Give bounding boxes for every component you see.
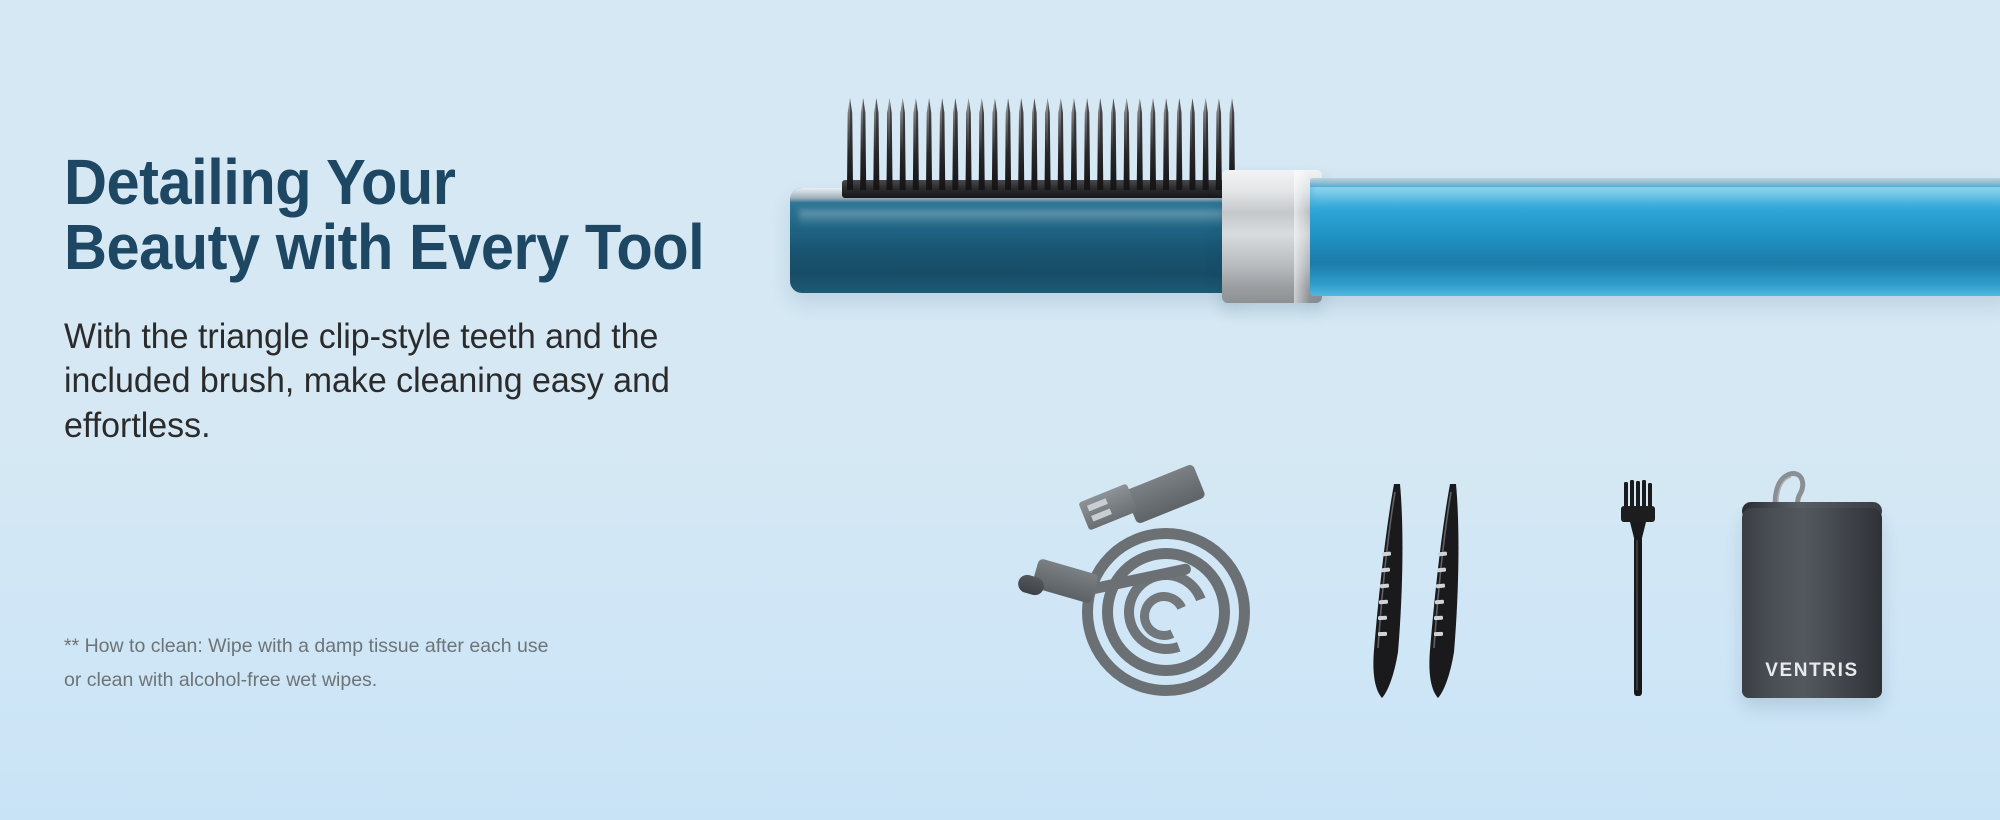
comb-tooth [1057, 98, 1065, 190]
comb-tooth [965, 98, 973, 190]
body-copy: With the triangle clip-style teeth and t… [64, 315, 733, 449]
usb-a-connector-tip [1078, 483, 1137, 530]
comb-attachment-barrel [790, 188, 1240, 293]
comb-tooth [1149, 98, 1157, 190]
product-image-styling-comb [790, 70, 2000, 330]
brand-logo-ventris: VENTRIS [1742, 660, 1882, 682]
body-line-1: With the triangle clip-style teeth and t… [64, 315, 733, 360]
comb-tooth [1162, 98, 1170, 190]
comb-tooth [951, 98, 959, 190]
page-title: Detailing Your Beauty with Every Tool [64, 150, 771, 281]
body-line-2: included brush, make cleaning easy and [64, 359, 733, 404]
comb-teeth-row [846, 98, 1236, 190]
hair-clip-right [1424, 482, 1466, 700]
comb-tooth [1070, 98, 1078, 190]
comb-tooth [872, 98, 880, 190]
copy-block: Detailing Your Beauty with Every Tool Wi… [64, 150, 824, 449]
headline-line-1: Detailing Your [64, 150, 771, 215]
comb-tooth [1083, 98, 1091, 190]
comb-tooth [1044, 98, 1052, 190]
comb-tooth [846, 98, 854, 190]
footnote-line-2: or clean with alcohol-free wet wipes. [64, 664, 549, 698]
comb-tooth [1017, 98, 1025, 190]
footnote-line-1: ** How to clean: Wipe with a damp tissue… [64, 630, 549, 664]
promo-banner: Detailing Your Beauty with Every Tool Wi… [0, 0, 2000, 820]
comb-tooth [991, 98, 999, 190]
comb-tooth [859, 98, 867, 190]
comb-tooth [938, 98, 946, 190]
comb-tooth [1096, 98, 1104, 190]
cleaning-footnote: ** How to clean: Wipe with a damp tissue… [64, 630, 549, 697]
hair-clip-left [1368, 482, 1410, 700]
comb-tooth [886, 98, 894, 190]
usb-cable [1020, 470, 1270, 700]
headline-line-2: Beauty with Every Tool [64, 215, 771, 280]
usb-a-connector-body [1124, 463, 1206, 524]
comb-tooth [1030, 98, 1038, 190]
comb-tooth [1004, 98, 1012, 190]
comb-tooth [1136, 98, 1144, 190]
storage-pouch: VENTRIS [1720, 470, 1910, 705]
body-line-3: effortless. [64, 404, 733, 449]
cleaning-brush [1596, 480, 1676, 698]
comb-tooth [978, 98, 986, 190]
pouch-body: VENTRIS [1742, 508, 1882, 698]
comb-tooth [1202, 98, 1210, 190]
metal-collar-ring [1222, 170, 1322, 303]
comb-tooth [1109, 98, 1117, 190]
comb-tooth [1188, 98, 1196, 190]
comb-tooth [1175, 98, 1183, 190]
comb-tooth [1123, 98, 1131, 190]
device-handle-barrel [1310, 178, 2000, 296]
comb-tooth [925, 98, 933, 190]
comb-tooth [912, 98, 920, 190]
accessories-row: VENTRIS [1020, 470, 1980, 710]
comb-tooth [899, 98, 907, 190]
sectioning-clips [1368, 482, 1518, 700]
